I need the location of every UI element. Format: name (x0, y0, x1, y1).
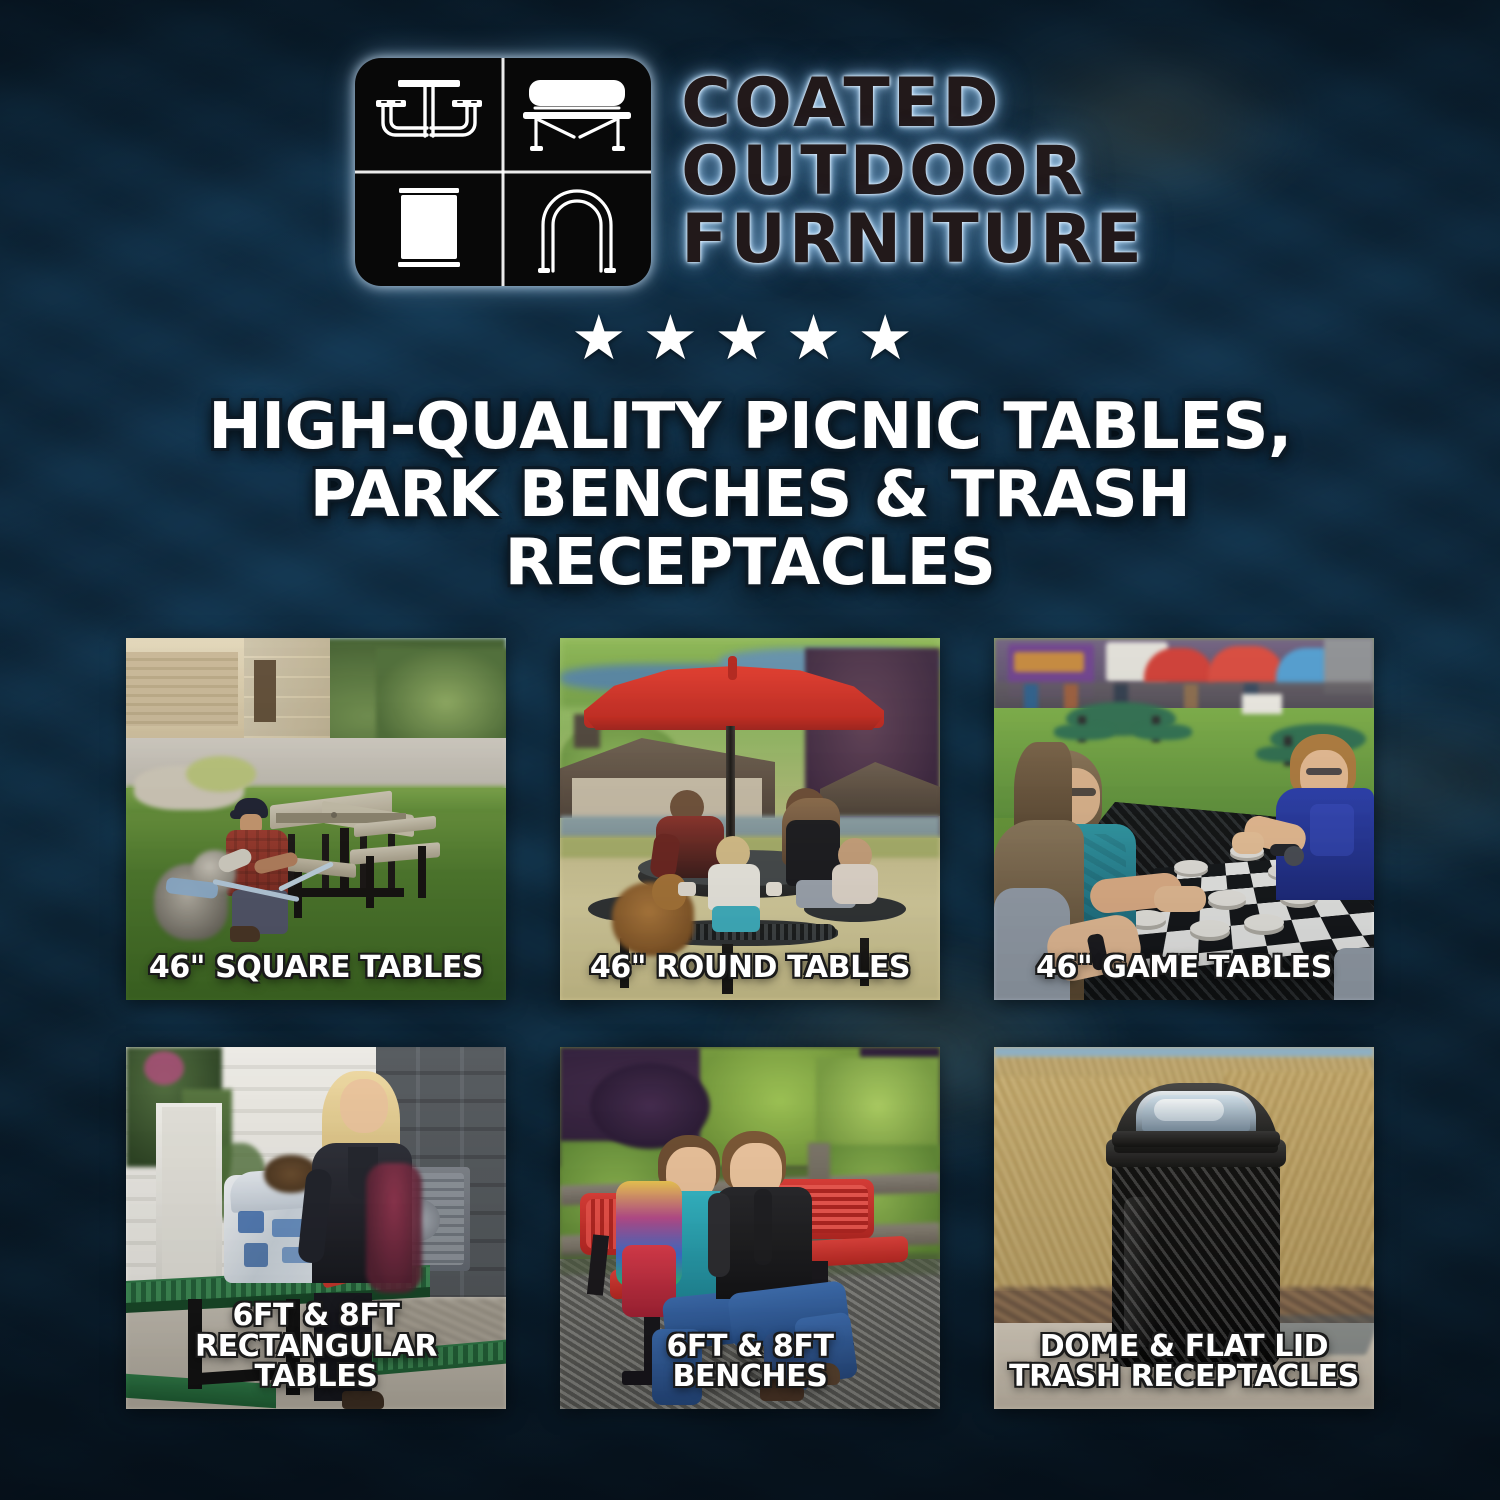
picnic-table-icon (355, 58, 503, 172)
product-caption: 6FT & 8FT BENCHES (560, 1332, 940, 1393)
caption-line-1: 46" ROUND TABLES (590, 950, 910, 985)
product-card-square-tables[interactable]: 46" SQUARE TABLES (126, 638, 506, 1000)
park-bench-icon (503, 58, 651, 172)
brand-wordmark: COATED OUTDOOR FURNITURE (681, 71, 1145, 273)
star-rating: ★★★★★ (0, 308, 1500, 370)
caption-line-2: BENCHES (568, 1362, 932, 1393)
product-card-rectangular-tables[interactable]: 6FT & 8FT RECTANGULAR TABLES (126, 1047, 506, 1409)
trash-receptacle-icon (355, 172, 503, 286)
bike-rack-icon (503, 172, 651, 286)
wordmark-line-2: OUTDOOR (681, 139, 1086, 205)
wordmark-line-3: FURNITURE (681, 207, 1145, 273)
product-caption: 46" SQUARE TABLES (126, 953, 506, 984)
product-caption: 46" GAME TABLES (994, 953, 1374, 984)
product-photo-round-tables (560, 638, 940, 1000)
logo-mark-tiles (355, 58, 651, 286)
brand-logo: COATED OUTDOOR FURNITURE (0, 58, 1500, 286)
product-card-game-tables[interactable]: 46" GAME TABLES (994, 638, 1374, 1000)
promotional-poster: COATED OUTDOOR FURNITURE ★★★★★ HIGH-QUAL… (0, 0, 1500, 1500)
product-caption: 6FT & 8FT RECTANGULAR TABLES (126, 1301, 506, 1393)
product-caption: 46" ROUND TABLES (560, 953, 940, 984)
wordmark-line-1: COATED (681, 71, 1002, 137)
caption-line-1: 6FT & 8FT (232, 1298, 399, 1333)
caption-line-1: 46" SQUARE TABLES (149, 950, 483, 985)
poster-header: COATED OUTDOOR FURNITURE ★★★★★ HIGH-QUAL… (0, 58, 1500, 597)
product-photo-square-tables (126, 638, 506, 1000)
product-grid: 46" SQUARE TABLES (126, 638, 1374, 1409)
product-photo-game-tables (994, 638, 1374, 1000)
caption-line-1: 46" GAME TABLES (1036, 950, 1332, 985)
page-title: HIGH-QUALITY PICNIC TABLES, PARK BENCHES… (110, 394, 1390, 597)
caption-line-2: TRASH RECEPTACLES (1002, 1362, 1366, 1393)
caption-line-2: RECTANGULAR TABLES (134, 1332, 498, 1393)
product-card-round-tables[interactable]: 46" ROUND TABLES (560, 638, 940, 1000)
product-card-benches[interactable]: 6FT & 8FT BENCHES (560, 1047, 940, 1409)
product-caption: DOME & FLAT LID TRASH RECEPTACLES (994, 1332, 1374, 1393)
product-card-trash-receptacles[interactable]: DOME & FLAT LID TRASH RECEPTACLES (994, 1047, 1374, 1409)
